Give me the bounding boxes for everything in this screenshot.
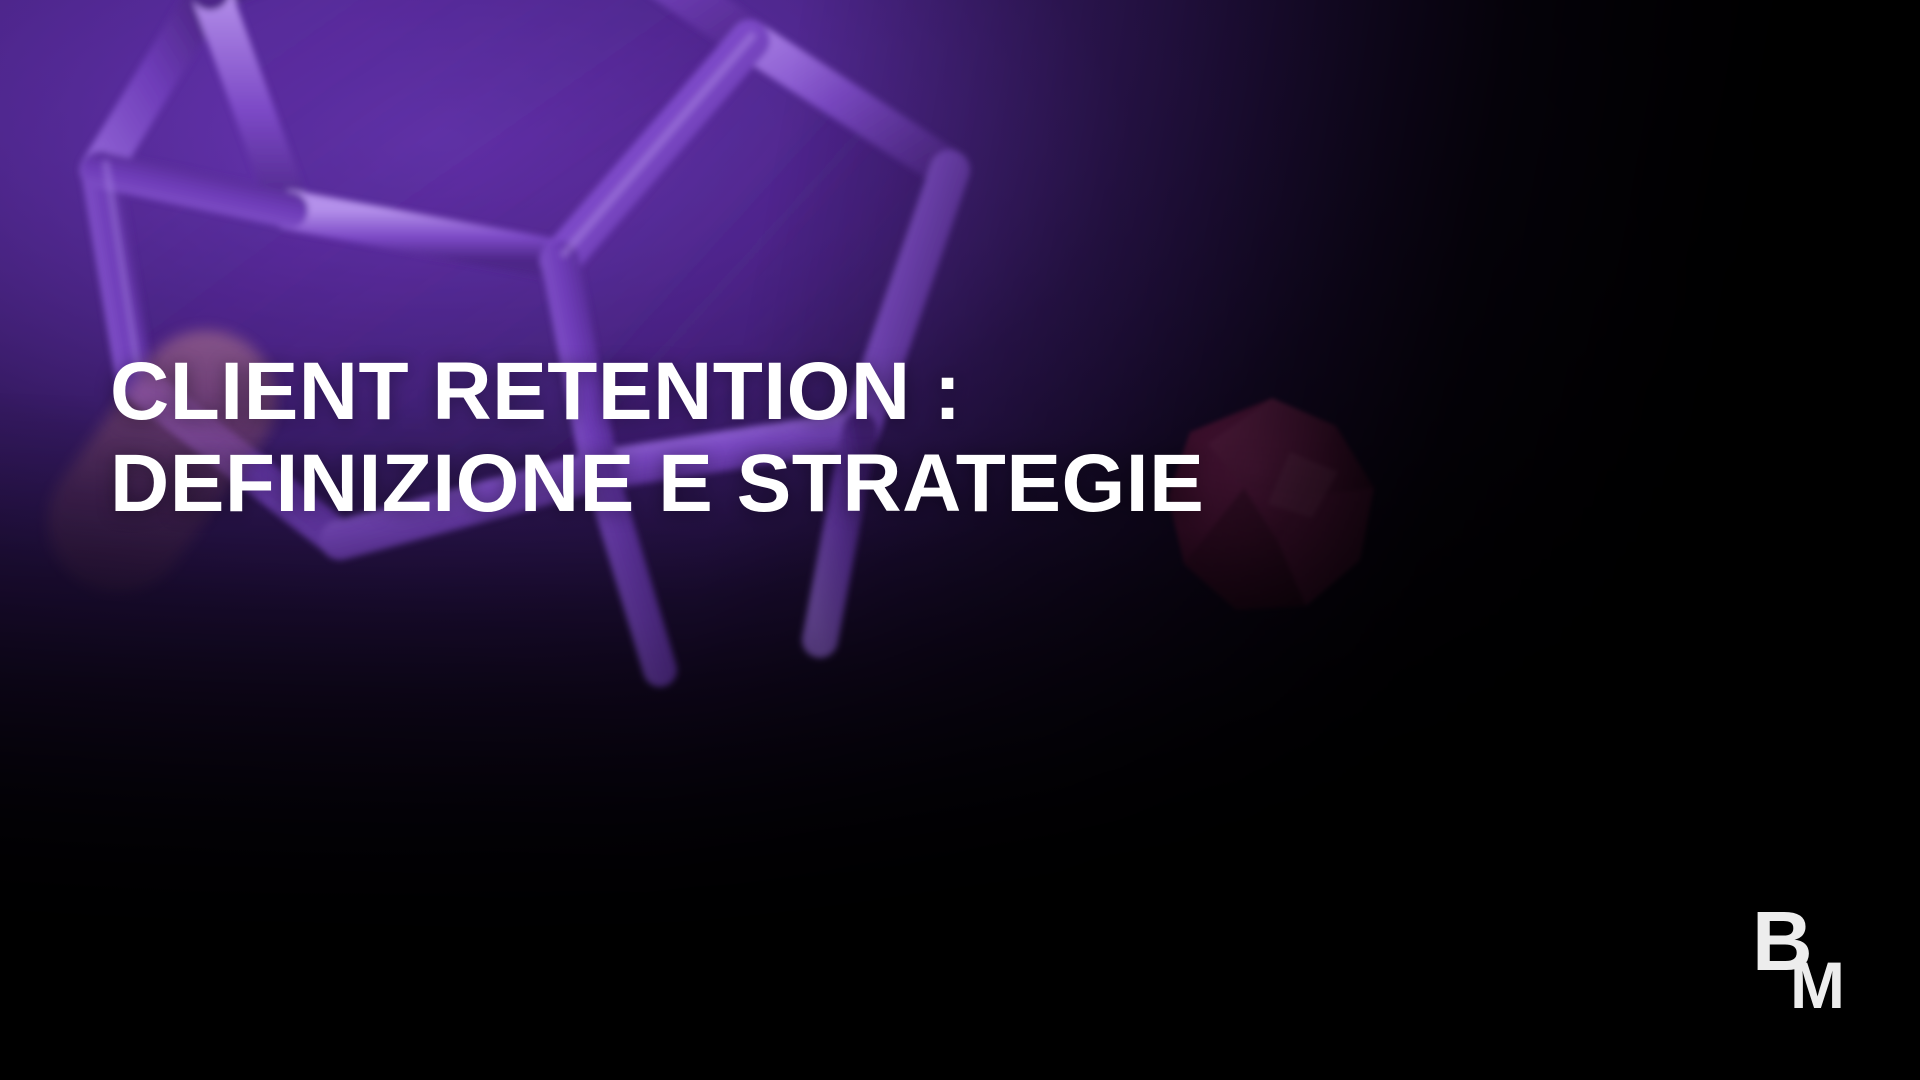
title-line-1: CLIENT RETENTION : [110,346,1770,438]
background-base-gradient [0,0,1920,1080]
background-vignette [0,0,1920,1080]
title-line-2: DEFINIZIONE E STRATEGIE [110,438,1770,530]
background-purple-glow [0,0,1920,1080]
title-slide: CLIENT RETENTION : DEFINIZIONE E STRATEG… [0,0,1920,1080]
background-bottom-fade [0,0,1920,1080]
background-right-fade [0,0,1920,1080]
bm-logo-letter-m: M [1790,948,1845,1012]
bm-logo: B M [1752,908,1862,1012]
page-title: CLIENT RETENTION : DEFINIZIONE E STRATEG… [110,346,1770,530]
